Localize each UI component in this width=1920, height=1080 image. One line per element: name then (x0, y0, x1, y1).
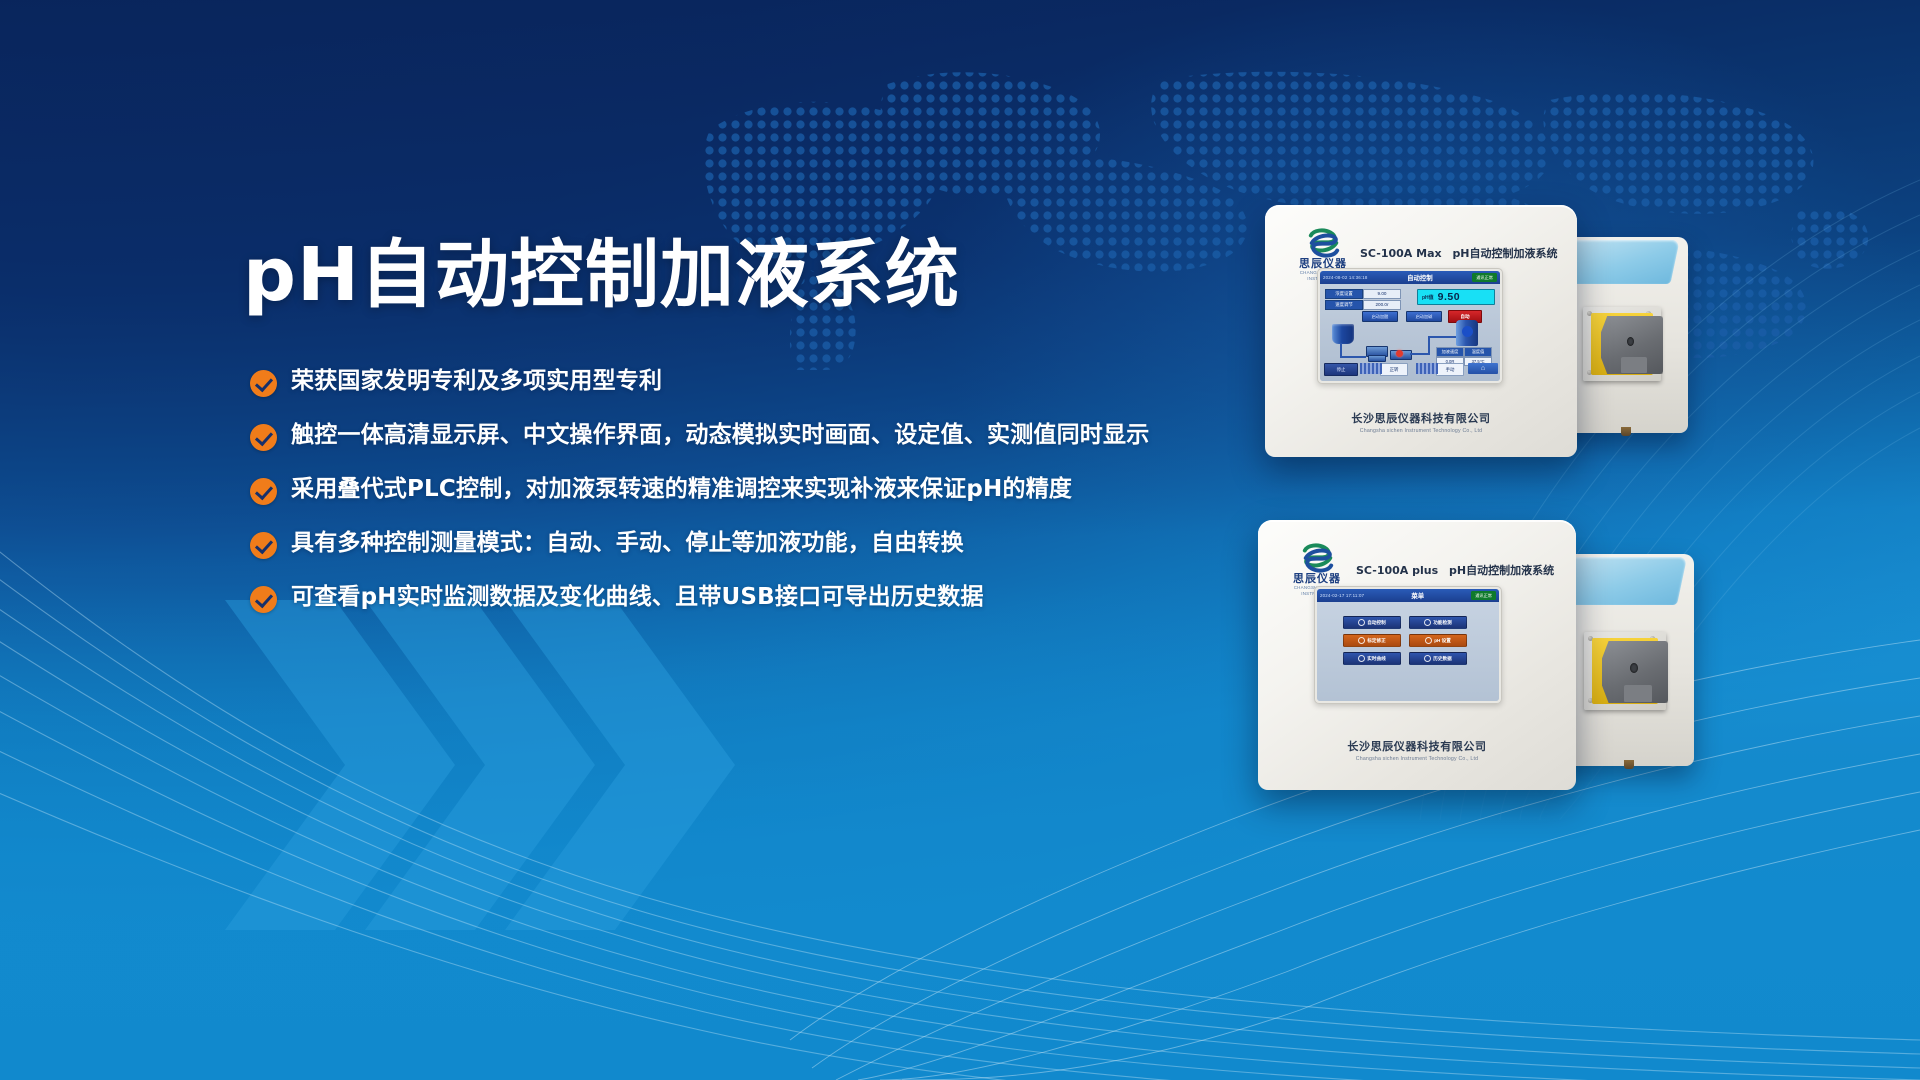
target-icon (1358, 637, 1365, 644)
reservoir-tank-icon (1332, 324, 1354, 344)
menu-realtime-curve[interactable]: 实时曲线 (1343, 652, 1401, 665)
check-circle-icon (250, 370, 277, 397)
list-item: 触控一体高清显示屏、中文操作界面，动态模拟实时画面、设定值、实测值同时显示 (250, 420, 1260, 451)
screen-timestamp: 2024-02-17 17:11:07 (1320, 593, 1364, 598)
chart-icon (1358, 655, 1365, 662)
device-model-label: SC-100A plus pH自动控制加液系统 (1356, 562, 1554, 578)
screen-body: 自动控制 功能检测 标定修正 pH 设置 实时曲线 历史数据 (1317, 602, 1499, 701)
ph-readout: pH值 9.50 (1417, 289, 1495, 305)
param-key: 速度调节 (1325, 300, 1363, 310)
valve-icon (1368, 355, 1386, 362)
home-button[interactable]: ⌂ (1468, 363, 1498, 374)
parameter-table: 浓度设置 9.00 速度调节 200.0r (1325, 289, 1401, 310)
readout-key: 温度值 (1464, 347, 1492, 357)
status-badge: 通讯正常 (1471, 591, 1496, 600)
peristaltic-pump-head (1584, 632, 1688, 718)
gear-icon (1358, 619, 1365, 626)
readout-key: 加液速度 (1436, 347, 1464, 357)
table-row: 加液速度 温度值 (1436, 347, 1492, 357)
feature-text: 可查看pH实时监测数据及变化曲线、且带USB接口可导出历史数据 (291, 582, 984, 612)
start-left-button[interactable]: 启动加酸 (1362, 311, 1398, 322)
feature-list: 荣获国家发明专利及多项实用型专利 触控一体高清显示屏、中文操作界面，动态模拟实时… (250, 366, 1260, 636)
status-badge: 通讯正常 (1472, 273, 1497, 282)
database-icon (1424, 655, 1431, 662)
positive-button[interactable]: 正转 (1380, 363, 1408, 376)
manufacturer-footer: 长沙思辰仪器科技有限公司 Changsha sichen Instrument … (1265, 410, 1577, 434)
hero-banner: pH自动控制加液系统 荣获国家发明专利及多项实用型专利 触控一体高清显示屏、中文… (0, 0, 1920, 1080)
list-item: 采用叠代式PLC控制，对加液泵转速的精准调控来实现补液来保证pH的精度 (250, 474, 1260, 505)
peristaltic-pump-head (1583, 307, 1683, 387)
manufacturer-name-en: Changsha sichen Instrument Technology Co… (1258, 756, 1576, 762)
check-circle-icon (250, 586, 277, 613)
hmi-touch-screen[interactable]: 2024-08-02 14:36:18 自动控制 通讯正常 浓度设置 9.00 … (1317, 268, 1503, 384)
screen-title: 菜单 (1411, 591, 1424, 600)
screen-timestamp: 2024-08-02 14:36:18 (1323, 275, 1368, 280)
check-circle-icon (250, 424, 277, 451)
manufacturer-name-zh: 长沙思辰仪器科技有限公司 (1265, 410, 1577, 426)
feature-text: 荣获国家发明专利及多项实用型专利 (291, 366, 662, 396)
stirrer-icon (1462, 326, 1473, 337)
device-sc100a-plus: 思辰仪器 CHANGSHA SICHEN INSTRUMENT SC-100A … (1258, 520, 1718, 800)
hero-content: pH自动控制加液系统 荣获国家发明专利及多项实用型专利 触控一体高清显示屏、中文… (0, 0, 1260, 1080)
pump-rotor-cap-icon (1630, 663, 1638, 673)
sliders-icon (1425, 637, 1432, 644)
menu-ph-settings[interactable]: pH 设置 (1409, 634, 1467, 647)
check-circle-icon (250, 478, 277, 505)
manufacturer-footer: 长沙思辰仪器科技有限公司 Changsha sichen Instrument … (1258, 738, 1576, 762)
manual-button[interactable]: 手动 (1436, 363, 1464, 376)
page-title: pH自动控制加液系统 (243, 238, 960, 312)
ph-label: pH值 (1422, 294, 1434, 301)
hmi-touch-screen[interactable]: 2024-02-17 17:11:07 菜单 通讯正常 自动控制 功能检测 标定… (1314, 586, 1502, 704)
ph-value: 9.50 (1438, 291, 1460, 303)
menu-auto-control[interactable]: 自动控制 (1343, 616, 1401, 629)
feature-text: 触控一体高清显示屏、中文操作界面，动态模拟实时画面、设定值、实测值同时显示 (291, 420, 1149, 450)
check-circle-icon (250, 532, 277, 559)
device-model-label: SC-100A Max pH自动控制加液系统 (1360, 245, 1558, 261)
device-sc100a-max: 思辰仪器 CHANGSHA SICHEN INSTRUMENT SC-100A … (1265, 205, 1715, 465)
screen-body: 浓度设置 9.00 速度调节 200.0r pH值 9.50 (1320, 284, 1500, 381)
sichen-logo-icon (1305, 227, 1341, 257)
device-model-suffix: pH自动控制加液系统 (1449, 564, 1554, 577)
sichen-logo-icon (1299, 542, 1335, 572)
menu-history-data[interactable]: 历史数据 (1409, 652, 1467, 665)
param-key: 浓度设置 (1325, 289, 1363, 299)
table-row: 浓度设置 9.00 (1325, 289, 1401, 299)
list-item: 可查看pH实时监测数据及变化曲线、且带USB接口可导出历史数据 (250, 582, 1260, 613)
menu-function-test[interactable]: 功能检测 (1409, 616, 1467, 629)
screen-header: 2024-02-17 17:11:07 菜单 通讯正常 (1317, 589, 1499, 602)
wrench-icon (1424, 619, 1431, 626)
screen-title: 自动控制 (1407, 273, 1433, 282)
list-item: 荣获国家发明专利及多项实用型专利 (250, 366, 1260, 397)
feature-text: 具有多种控制测量模式：自动、手动、停止等加液功能，自由转换 (291, 528, 964, 558)
menu-calibration[interactable]: 标定修正 (1343, 634, 1401, 647)
pump-rotor-cap-icon (1627, 337, 1634, 346)
start-right-button[interactable]: 启动加碱 (1406, 311, 1442, 322)
param-value[interactable]: 9.00 (1363, 289, 1401, 299)
table-row: 速度调节 200.0r (1325, 300, 1401, 310)
menu-grid: 自动控制 功能检测 标定修正 pH 设置 实时曲线 历史数据 (1343, 616, 1467, 665)
stop-button[interactable]: 停止 (1324, 363, 1358, 376)
device-model-suffix: pH自动控制加液系统 (1452, 247, 1557, 260)
feature-text: 采用叠代式PLC控制，对加液泵转速的精准调控来实现补液来保证pH的精度 (291, 474, 1072, 504)
manufacturer-name-zh: 长沙思辰仪器科技有限公司 (1258, 738, 1576, 754)
indicator-dot-icon (1396, 350, 1403, 357)
list-item: 具有多种控制测量模式：自动、手动、停止等加液功能，自由转换 (250, 528, 1260, 559)
param-value[interactable]: 200.0r (1363, 300, 1401, 310)
manufacturer-name-en: Changsha sichen Instrument Technology Co… (1265, 428, 1577, 434)
screen-header: 2024-08-02 14:36:18 自动控制 通讯正常 (1320, 271, 1500, 284)
